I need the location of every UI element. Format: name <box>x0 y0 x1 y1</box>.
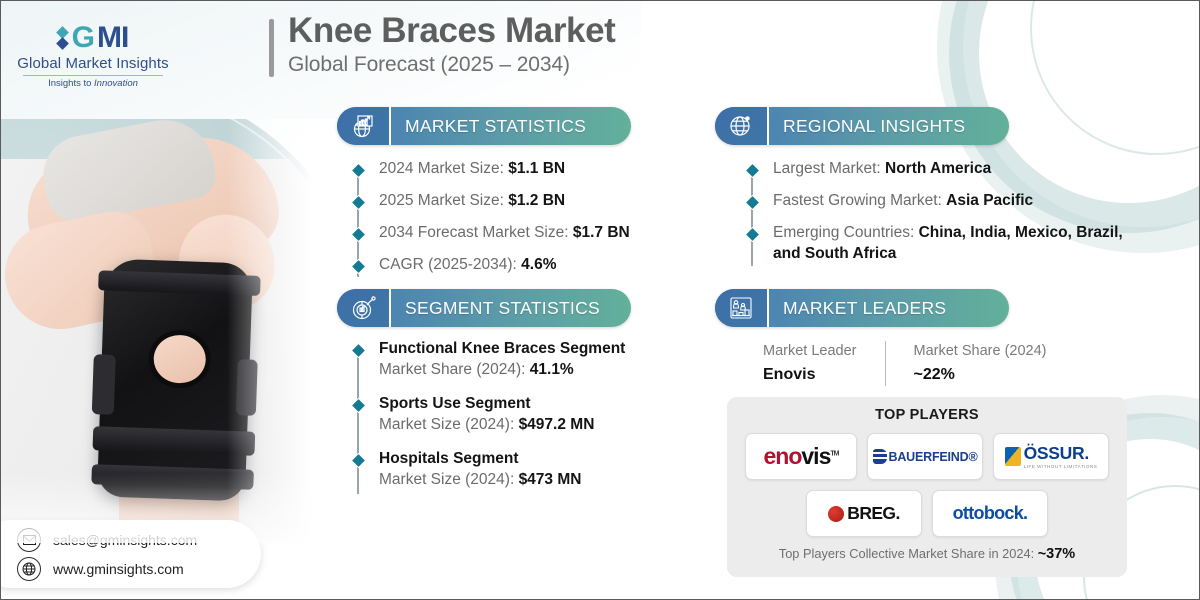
stat-label: 2024 Market Size: <box>379 160 508 177</box>
segment-heading: Functional Knee Braces Segment <box>379 339 651 360</box>
list-item: 2034 Forecast Market Size: $1.7 BN <box>351 223 641 244</box>
market-share-label: Market Share (2024) <box>914 341 1047 363</box>
enovis-part-a: eno <box>764 443 802 469</box>
bullet-diamond-icon <box>352 228 365 241</box>
contact-website-row[interactable]: www.gminsights.com <box>17 557 261 581</box>
segment-value: $473 MN <box>519 471 582 488</box>
logo-tagline-part1: Insights to <box>48 78 94 89</box>
brace-strap-bottom <box>91 464 254 490</box>
pie-chart-icon <box>337 289 391 327</box>
decorative-arc-top-right-line <box>1030 0 1200 155</box>
list-item: 2024 Market Size: $1.1 BN <box>351 159 641 180</box>
segment-label: Market Share (2024): <box>379 361 530 378</box>
player-logo-ossur[interactable]: ÖSSUR. LIFE WITHOUT LIMITATIONS <box>993 433 1109 480</box>
region-value: North America <box>885 160 991 177</box>
region-value: Asia Pacific <box>946 192 1033 209</box>
logo-company-name: Global Market Insights <box>13 55 173 72</box>
page-subtitle: Global Forecast (2025 – 2034) <box>288 53 615 77</box>
top-players-title: TOP PLAYERS <box>727 397 1127 423</box>
segment-statistics-list: Functional Knee Braces SegmentMarket Sha… <box>351 339 651 504</box>
market-share-value: ~22% <box>914 363 1047 386</box>
regional-insights-list: Largest Market: North America Fastest Gr… <box>745 159 1145 276</box>
bullet-diamond-icon <box>352 164 365 177</box>
market-leader-column: Market Leader Enovis <box>763 341 857 386</box>
section-header-market-leaders: MARKET LEADERS <box>715 289 1009 327</box>
logo-tagline: Insights to Innovation <box>13 78 173 89</box>
player-logo-bauerfeind[interactable]: BAUERFEIND® <box>867 433 983 480</box>
stat-value: $1.7 BN <box>573 224 630 241</box>
stat-label: 2025 Market Size: <box>379 192 508 209</box>
section-header-label: REGIONAL INSIGHTS <box>769 116 965 137</box>
section-header-regional-insights: REGIONAL INSIGHTS <box>715 107 1009 145</box>
ossur-wordmark: ÖSSUR. <box>1024 443 1089 463</box>
photo-knee-brace <box>97 258 253 501</box>
segment-heading: Hospitals Segment <box>379 449 651 470</box>
logo-mark-row: G MI <box>13 23 173 53</box>
collective-share-value: ~37% <box>1038 546 1076 562</box>
title-accent-bar <box>269 19 274 77</box>
section-header-label: MARKET LEADERS <box>769 298 946 319</box>
list-item: CAGR (2025-2034): 4.6% <box>351 255 641 276</box>
brace-strap-top <box>98 270 261 296</box>
logo-divider <box>23 75 163 76</box>
globe-chart-icon <box>337 107 391 145</box>
logo-diamond-icon <box>58 28 67 48</box>
market-leaders-values: Market Leader Enovis Market Share (2024)… <box>763 341 1046 386</box>
breg-wordmark: BREG. <box>847 503 899 524</box>
segment-value: 41.1% <box>530 361 574 378</box>
enovis-tm: TM <box>830 450 838 457</box>
list-item: Hospitals SegmentMarket Size (2024): $47… <box>351 449 651 491</box>
market-leader-label: Market Leader <box>763 341 857 363</box>
region-label: Fastest Growing Market: <box>773 192 946 209</box>
player-logo-breg[interactable]: BREG. <box>806 490 922 537</box>
stat-label: 2034 Forecast Market Size: <box>379 224 573 241</box>
stat-value: $1.1 BN <box>508 160 565 177</box>
section-header-label: MARKET STATISTICS <box>391 116 586 137</box>
brace-patella-opening <box>153 334 207 384</box>
list-item: Functional Knee Braces SegmentMarket Sha… <box>351 339 651 381</box>
enovis-part-b: vis <box>801 443 830 469</box>
section-header-market-statistics: MARKET STATISTICS <box>337 107 631 145</box>
infographic-canvas: G MI Global Market Insights Insights to … <box>0 0 1200 600</box>
logo-letter-mi: MI <box>97 23 128 53</box>
collective-share-label: Top Players Collective Market Share in 2… <box>779 546 1038 561</box>
section-header-segment-statistics: SEGMENT STATISTICS <box>337 289 631 327</box>
list-item: Largest Market: North America <box>745 159 1145 180</box>
region-label: Largest Market: <box>773 160 885 177</box>
logo-tagline-part2: Innovation <box>94 78 138 89</box>
bullet-diamond-icon <box>352 454 365 467</box>
segment-value: $497.2 MN <box>519 416 595 433</box>
segment-label: Market Size (2024): <box>379 471 519 488</box>
market-share-column: Market Share (2024) ~22% <box>885 341 1047 386</box>
segment-label: Market Size (2024): <box>379 416 519 433</box>
knee-brace-photo <box>1 119 337 543</box>
region-label: Emerging Countries: <box>773 224 919 241</box>
market-leader-value: Enovis <box>763 363 857 386</box>
bullet-diamond-icon <box>746 228 759 241</box>
globe-icon <box>17 557 41 581</box>
bauerfeind-mark-icon <box>873 449 887 464</box>
globe-pin-icon <box>715 107 769 145</box>
ossur-tagline: LIFE WITHOUT LIMITATIONS <box>1024 464 1098 469</box>
player-logo-ottobock[interactable]: ottobock. <box>932 490 1048 537</box>
stat-label: CAGR (2025-2034): <box>379 256 521 273</box>
contact-website: www.gminsights.com <box>53 561 184 577</box>
brace-hinge-right <box>236 359 258 416</box>
list-item: Fastest Growing Market: Asia Pacific <box>745 191 1145 212</box>
gmi-logo: G MI Global Market Insights Insights to … <box>13 23 173 89</box>
breg-mark-icon <box>828 506 844 522</box>
brace-strap-middle <box>93 426 256 456</box>
page-title-block: Knee Braces Market Global Forecast (2025… <box>269 13 615 77</box>
podium-icon <box>715 289 769 327</box>
list-item: 2025 Market Size: $1.2 BN <box>351 191 641 212</box>
ottobock-wordmark: ottobock. <box>953 503 1028 524</box>
bullet-diamond-icon <box>746 164 759 177</box>
player-logo-enovis[interactable]: enovisTM <box>745 433 857 480</box>
page-title: Knee Braces Market <box>288 13 615 50</box>
list-item: Sports Use SegmentMarket Size (2024): $4… <box>351 394 651 436</box>
section-header-label: SEGMENT STATISTICS <box>391 298 600 319</box>
bullet-diamond-icon <box>352 260 365 273</box>
logo-letter-g: G <box>72 23 94 53</box>
stat-value: $1.2 BN <box>508 192 565 209</box>
list-item: Emerging Countries: China, India, Mexico… <box>745 223 1145 265</box>
ossur-mark-icon <box>1005 447 1021 466</box>
brace-hinge-left <box>92 354 116 415</box>
bullet-diamond-icon <box>352 399 365 412</box>
top-players-footer: Top Players Collective Market Share in 2… <box>727 537 1127 562</box>
stat-value: 4.6% <box>521 256 556 273</box>
top-players-logo-grid: enovisTM BAUERFEIND® ÖSSUR. LIFE WITHOUT… <box>727 423 1127 537</box>
top-players-panel: TOP PLAYERS enovisTM BAUERFEIND® ÖSSUR. … <box>727 397 1127 577</box>
bullet-diamond-icon <box>746 196 759 209</box>
bullet-diamond-icon <box>352 344 365 357</box>
bauerfeind-wordmark: BAUERFEIND® <box>889 450 978 464</box>
segment-heading: Sports Use Segment <box>379 394 651 415</box>
market-statistics-list: 2024 Market Size: $1.1 BN 2025 Market Si… <box>351 159 641 287</box>
bullet-diamond-icon <box>352 196 365 209</box>
